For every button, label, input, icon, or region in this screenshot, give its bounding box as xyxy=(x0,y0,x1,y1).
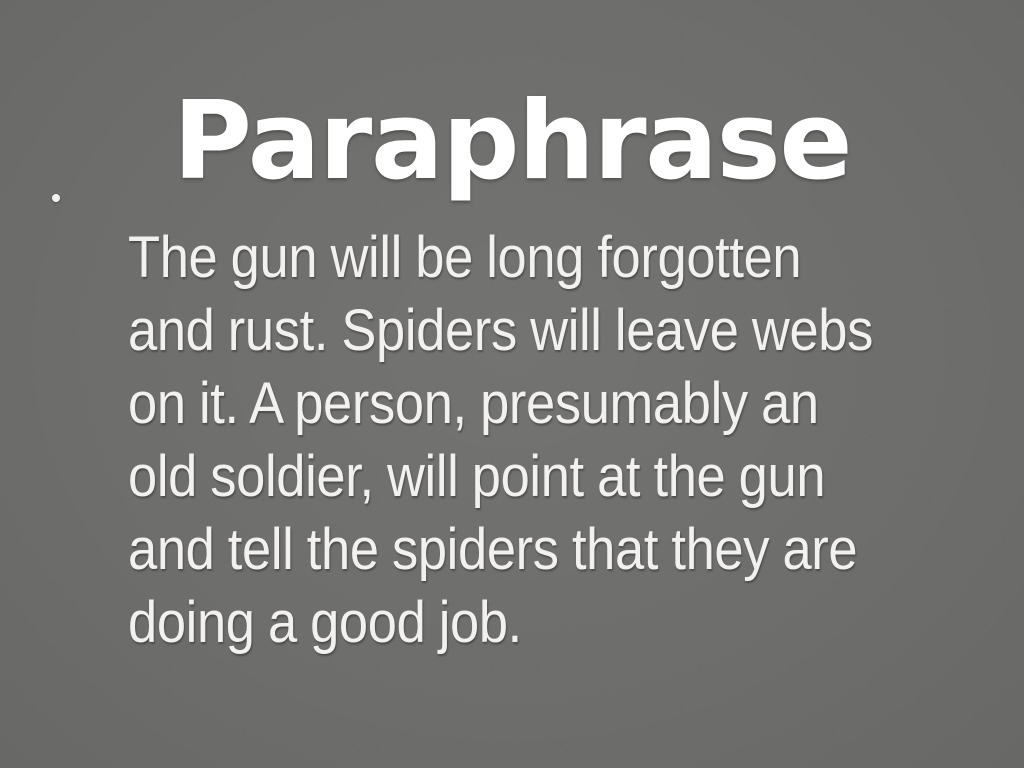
bullet-dot-icon xyxy=(52,194,60,202)
presentation-slide: Paraphrase The gun will be long forgotte… xyxy=(0,0,1024,768)
bullet-body-text: The gun will be long forgotten and rust.… xyxy=(128,221,874,659)
bullet-list-item: The gun will be long forgotten and rust.… xyxy=(52,163,952,717)
